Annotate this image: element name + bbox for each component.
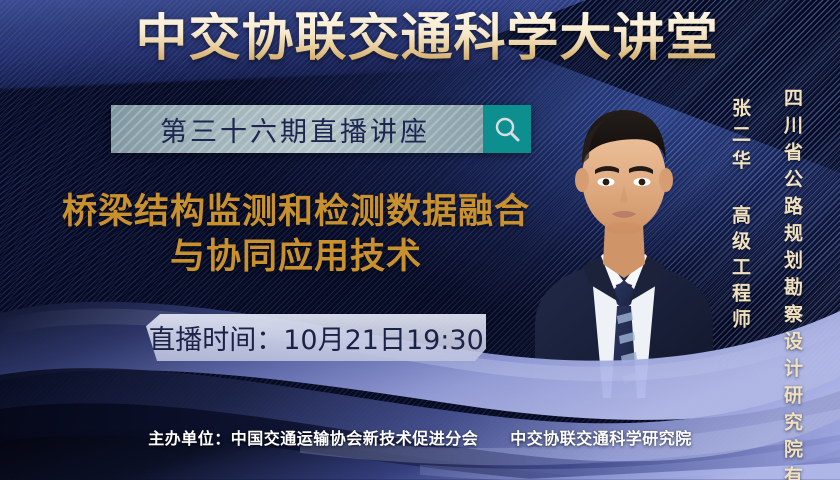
search-button[interactable] [483,105,531,153]
episode-plate: 第三十六期直播讲座 [111,105,483,153]
lecture-title-line-2: 与协同应用技术 [36,235,556,280]
footer-organizer-primary: 主办单位：中国交通运输协会新技术促进分会 [148,429,478,448]
lecture-title-line-1: 桥梁结构监测和检测数据融合 [62,192,530,232]
broadcast-time-label: 直播时间：10月21日19:30 [148,318,484,357]
footer-organizer-secondary: 中交协联交通科学研究院 [510,429,692,448]
speaker-name-and-title: 张二华 高级工程师 [727,98,754,335]
lecture-title: 桥梁结构监测和检测数据融合 与协同应用技术 [36,190,556,280]
page-title: 中交协联交通科学大讲堂 [0,12,840,64]
episode-banner: 第三十六期直播讲座 [111,105,531,153]
broadcast-time-badge: 直播时间：10月21日19:30 [146,314,486,361]
episode-label: 第三十六期直播讲座 [160,110,434,149]
footer-organizers: 主办单位：中国交通运输协会新技术促进分会 中交协联交通科学研究院 [0,425,840,449]
speaker-organization: 四川省公路规划勘察设计研究院有限公司 [779,88,806,480]
search-icon [493,115,521,143]
live-lecture-poster: 中交协联交通科学大讲堂 第三十六期直播讲座 桥梁结构监测和检测数据融合 与协同应… [0,0,840,480]
